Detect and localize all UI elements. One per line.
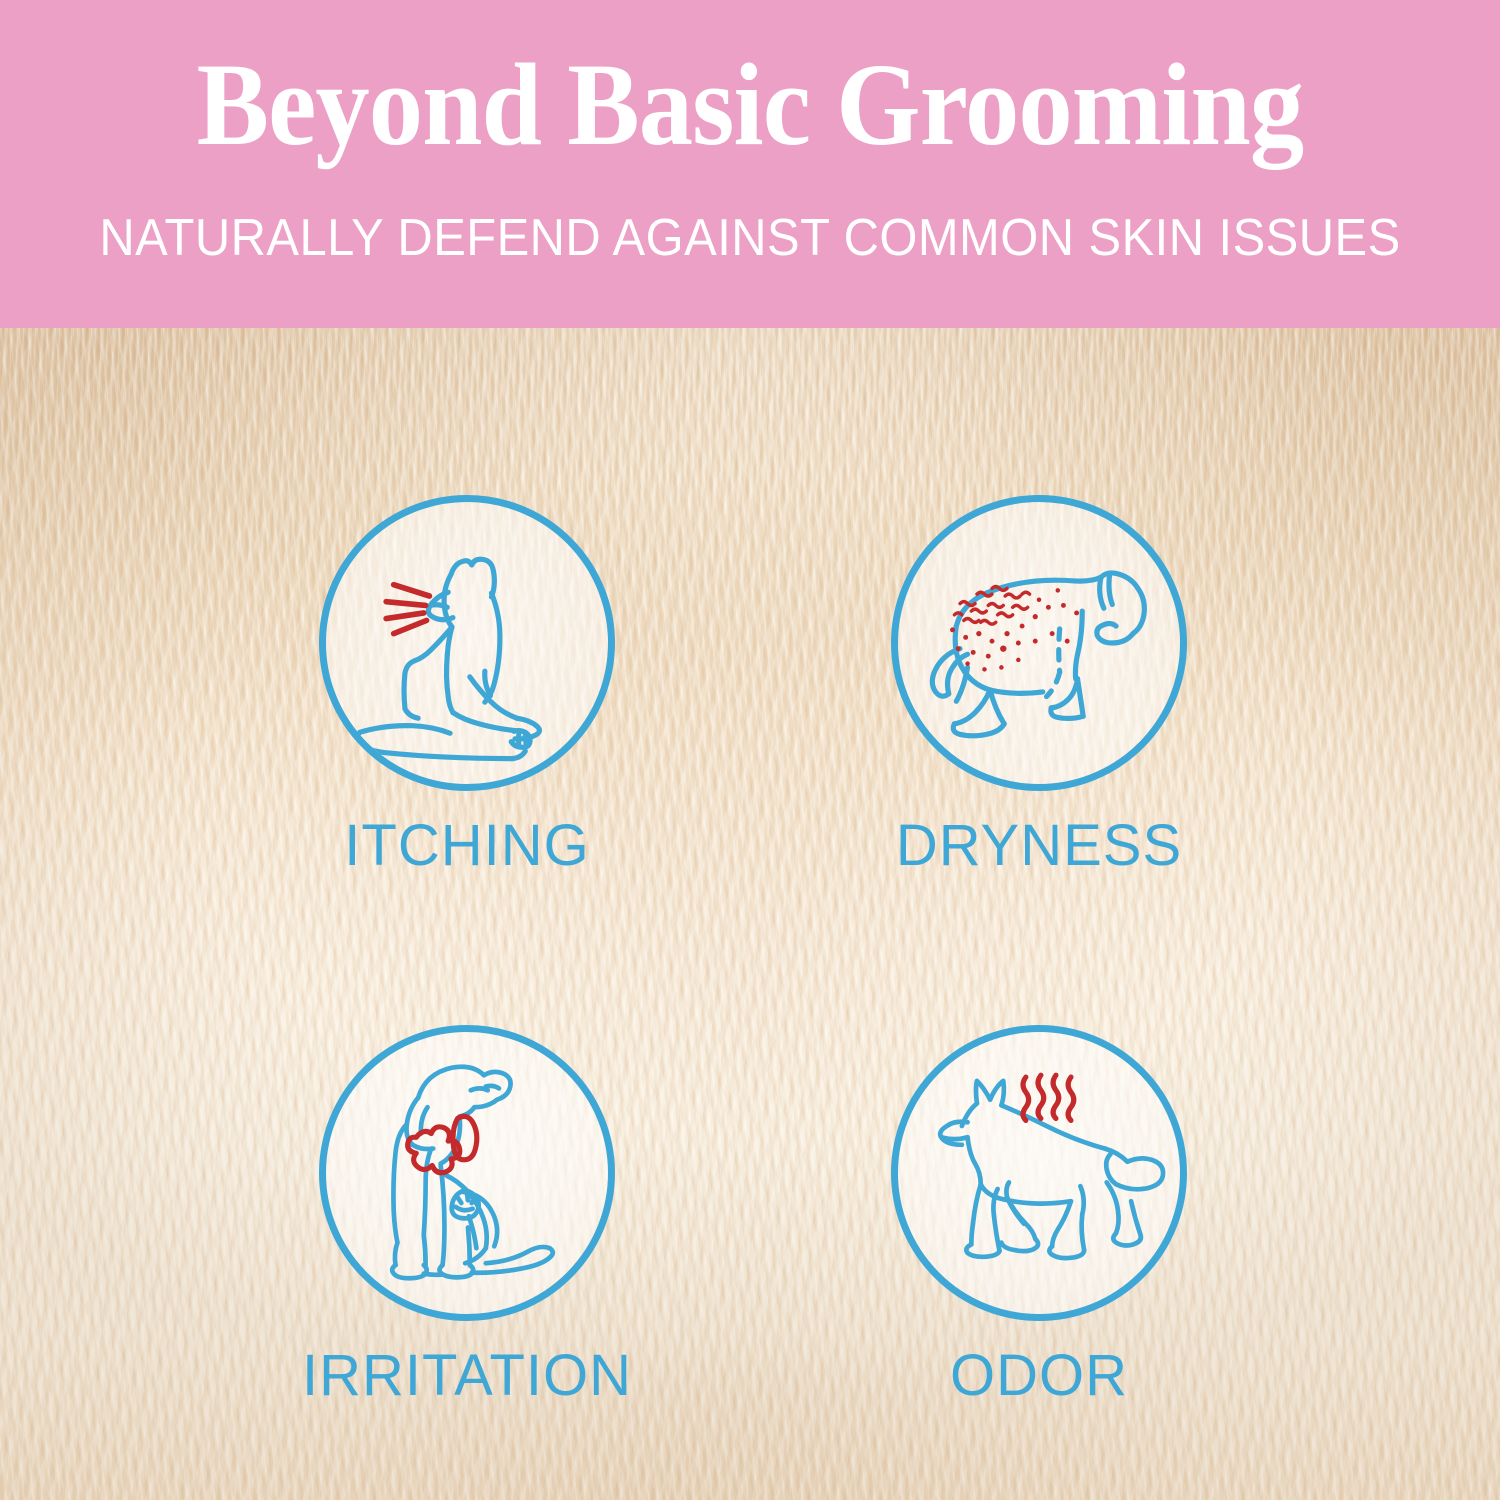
feature-label-dryness: DRYNESS — [869, 817, 1209, 875]
fur-strand-layer-4 — [0, 328, 1500, 1500]
infographic-page: Beyond Basic Grooming NATURALLY DEFEND A… — [0, 0, 1500, 1500]
header-band: Beyond Basic Grooming NATURALLY DEFEND A… — [0, 0, 1500, 328]
page-subtitle: NATURALLY DEFEND AGAINST COMMON SKIN ISS… — [45, 208, 1455, 268]
dog-dandruff-icon — [898, 502, 1180, 784]
fur-strand-layer-3 — [0, 328, 1500, 1500]
icon-circle-itching — [319, 495, 615, 791]
fur-strand-layer-2 — [0, 328, 1500, 1500]
dog-odor-icon — [898, 1032, 1180, 1314]
icon-circle-dryness — [891, 495, 1187, 791]
feature-tile-odor: ODOR — [869, 1025, 1209, 1405]
icon-circle-odor — [891, 1025, 1187, 1321]
dog-irritated-patch-icon — [326, 1032, 608, 1314]
feature-tile-irritation: IRRITATION — [297, 1025, 637, 1405]
page-title: Beyond Basic Grooming — [60, 46, 1440, 164]
dog-scratching-icon — [326, 502, 608, 784]
icon-circle-irritation — [319, 1025, 615, 1321]
feature-label-itching: ITCHING — [297, 817, 637, 875]
feature-tile-dryness: DRYNESS — [869, 495, 1209, 875]
fur-vignette — [0, 328, 1500, 1500]
feature-label-irritation: IRRITATION — [297, 1347, 637, 1405]
fur-strand-layer-1 — [0, 328, 1500, 1500]
fur-background — [0, 328, 1500, 1500]
fur-top-fuzz — [0, 328, 1500, 708]
feature-tile-itching: ITCHING — [297, 495, 637, 875]
feature-label-odor: ODOR — [869, 1347, 1209, 1405]
